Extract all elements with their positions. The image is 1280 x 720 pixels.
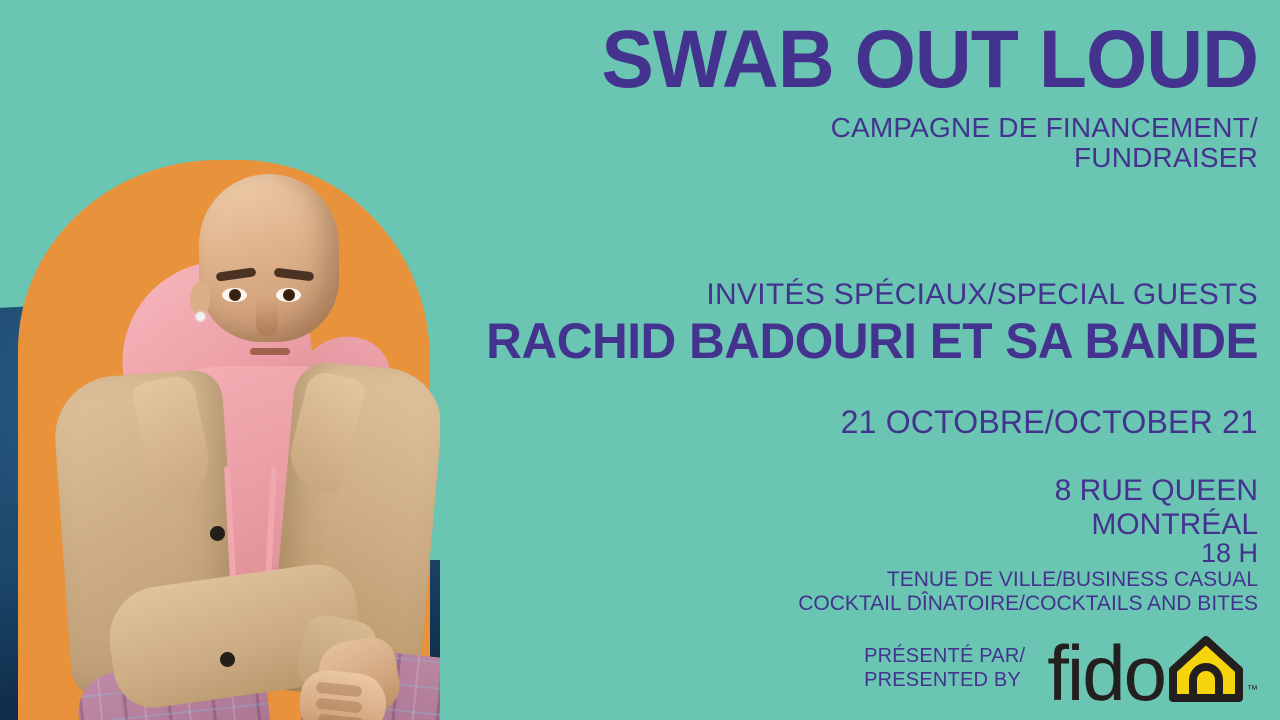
event-date: 21 OCTOBRE/OCTOBER 21 [428, 406, 1258, 438]
mouth [250, 348, 290, 355]
event-poster: SWAB OUT LOUD CAMPAGNE DE FINANCEMENT/ F… [0, 0, 1280, 720]
venue-street: 8 RUE QUEEN [428, 474, 1258, 508]
earring [196, 312, 205, 321]
trademark-symbol: ™ [1247, 685, 1258, 704]
dresscode-line-2: COCKTAIL DÎNATOIRE/COCKTAILS AND BITES [428, 592, 1258, 616]
poster-subheadline: CAMPAGNE DE FINANCEMENT/ FUNDRAISER [428, 113, 1258, 173]
special-guests-label: INVITÉS SPÉCIAUX/SPECIAL GUESTS [428, 280, 1258, 310]
eye-right [276, 288, 301, 302]
ear [190, 282, 210, 316]
event-venue: 8 RUE QUEEN MONTRÉAL [428, 474, 1258, 541]
sponsor-lockup: PRÉSENTÉ PAR/ PRESENTED BY fido ™ [864, 634, 1258, 704]
presented-by-label: PRÉSENTÉ PAR/ PRESENTED BY [864, 645, 1025, 692]
jacket-button-lower [220, 652, 235, 667]
dresscode-line-1: TENUE DE VILLE/BUSINESS CASUAL [428, 568, 1258, 592]
presented-by-en: PRESENTED BY [864, 669, 1025, 693]
presented-by-fr: PRÉSENTÉ PAR/ [864, 645, 1025, 669]
subheadline-line-en: FUNDRAISER [428, 143, 1258, 173]
event-time: 18 H [428, 540, 1258, 567]
subheadline-line-fr: CAMPAGNE DE FINANCEMENT/ [428, 113, 1258, 143]
figure-group [24, 166, 424, 720]
subject-photo [0, 0, 440, 720]
fido-logo: fido ™ [1047, 634, 1258, 704]
special-guests-name: RACHID BADOURI ET SA BANDE [436, 316, 1258, 366]
venue-city: MONTRÉAL [428, 508, 1258, 542]
event-dresscode: TENUE DE VILLE/BUSINESS CASUAL COCKTAIL … [428, 568, 1258, 615]
jacket-button-upper [210, 526, 225, 541]
doghouse-icon [1169, 634, 1243, 704]
poster-headline: SWAB OUT LOUD [461, 22, 1258, 97]
nose [256, 298, 278, 336]
fido-wordmark: fido [1047, 643, 1165, 704]
eye-left [222, 288, 247, 302]
poster-text-column: SWAB OUT LOUD CAMPAGNE DE FINANCEMENT/ F… [428, 0, 1258, 720]
